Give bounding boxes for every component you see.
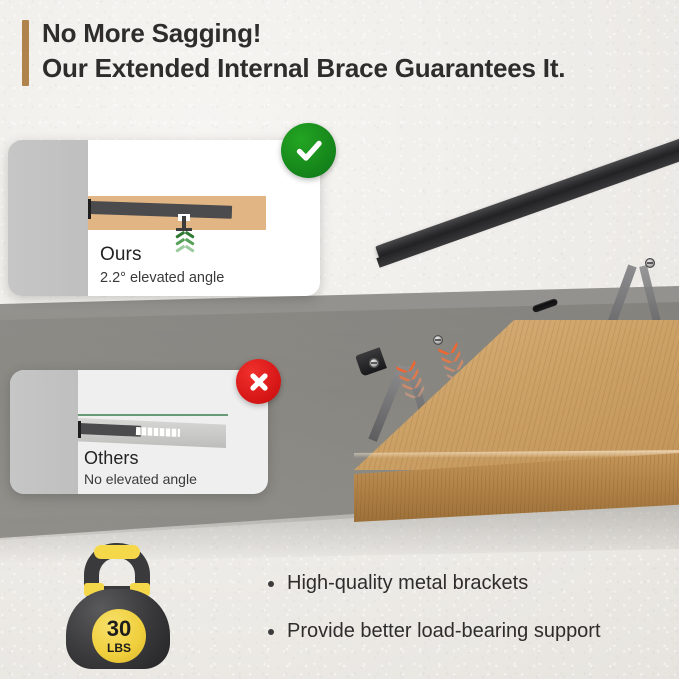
comparison-card-others: Others No elevated angle <box>10 370 268 494</box>
product-photo <box>340 108 679 438</box>
bullet-dot-icon <box>268 581 274 587</box>
mounting-screw <box>645 258 655 268</box>
comparison-sublabel-ours: 2.2° elevated angle <box>100 270 224 286</box>
check-icon <box>281 123 336 178</box>
kettlebell-handle-grip <box>94 545 140 559</box>
headline-block: No More Sagging! Our Extended Internal B… <box>22 16 672 86</box>
comparison-label-others: Others <box>84 448 139 469</box>
comparison-sublabel-others: No elevated angle <box>84 471 197 487</box>
diagram-brace-anchor-others <box>78 421 81 438</box>
feature-text: Provide better load-bearing support <box>287 618 601 644</box>
headline-line-1: No More Sagging! <box>42 16 672 51</box>
weight-value: 30 <box>107 618 131 640</box>
bracket-rail-face <box>376 148 679 268</box>
diagram-brace-anchor-ours <box>88 199 91 219</box>
up-chevrons-icon <box>174 236 196 262</box>
shelf-top-surface <box>354 320 679 470</box>
wooden-shelf <box>354 320 679 540</box>
product-marketing-image: No More Sagging! Our Extended Internal B… <box>0 0 679 679</box>
kettlebell-icon: 30 LBS <box>58 543 178 669</box>
weight-unit: LBS <box>107 642 131 654</box>
headline-accent-bar <box>22 20 29 86</box>
comparison-label-ours: Ours <box>100 244 142 266</box>
list-item: High-quality metal brackets <box>268 570 668 596</box>
headline-text: No More Sagging! Our Extended Internal B… <box>42 16 672 86</box>
headline-line-2: Our Extended Internal Brace Guarantees I… <box>42 51 672 86</box>
weight-badge: 30 LBS <box>92 609 146 663</box>
comparison-card-ours: Ours 2.2° elevated angle <box>8 140 320 296</box>
bullet-dot-icon <box>268 629 274 635</box>
diagram-wall-block-others <box>10 370 78 494</box>
feature-list: High-quality metal brackets Provide bett… <box>268 570 668 666</box>
diagram-wall-block <box>8 140 88 296</box>
list-item: Provide better load-bearing support <box>268 618 668 644</box>
diagram-reference-line <box>78 414 228 416</box>
bracket-keyhole-slot <box>532 298 559 313</box>
kettlebell-body: 30 LBS <box>66 589 170 669</box>
feature-text: High-quality metal brackets <box>287 570 528 596</box>
cross-icon <box>236 359 281 404</box>
